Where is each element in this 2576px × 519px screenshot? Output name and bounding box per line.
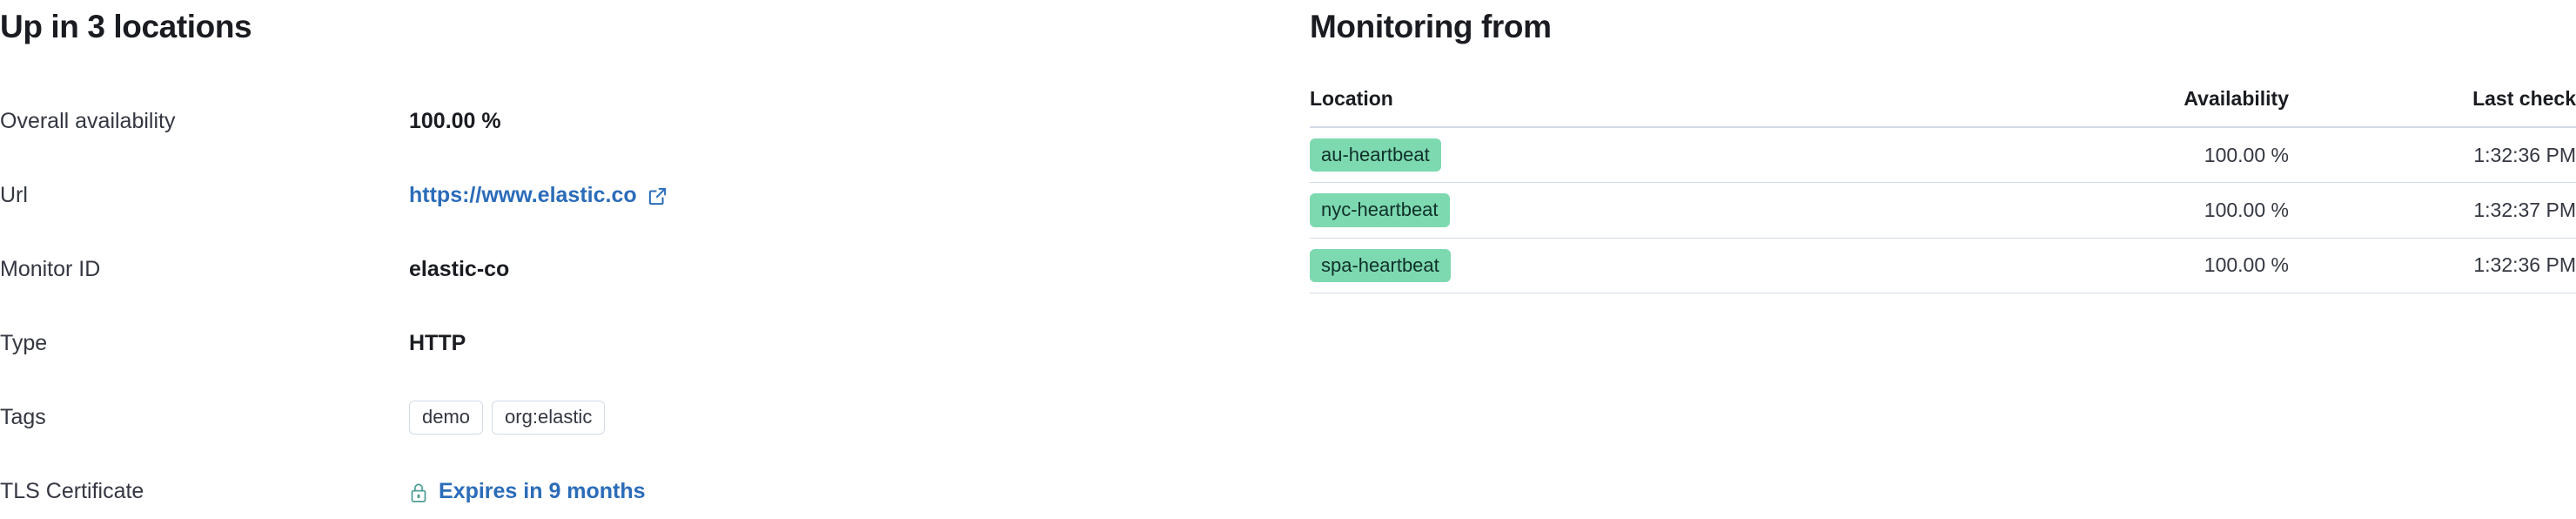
detail-row-url: Url https://www.elastic.co [0, 177, 1218, 214]
lock-icon [409, 482, 428, 503]
detail-label-tags: Tags [0, 407, 409, 428]
detail-value-type: HTTP [409, 333, 466, 354]
cell-last-check: 1:32:37 PM [2289, 183, 2576, 238]
detail-label-tls-certificate: TLS Certificate [0, 481, 409, 502]
tag-pill[interactable]: org:elastic [492, 401, 605, 435]
table-header-row: Location Availability Last check [1310, 87, 2576, 127]
cell-availability: 100.00 % [1923, 238, 2289, 293]
tag-pill[interactable]: demo [409, 401, 483, 435]
location-badge[interactable]: nyc-heartbeat [1310, 193, 1450, 226]
detail-label-type: Type [0, 333, 409, 354]
tag-pill-list: demo org:elastic [409, 401, 605, 435]
cell-last-check: 1:32:36 PM [2289, 238, 2576, 293]
location-badge[interactable]: spa-heartbeat [1310, 249, 1451, 282]
location-badge[interactable]: au-heartbeat [1310, 138, 1441, 172]
monitor-detail-page: Up in 3 locations Overall availability 1… [0, 0, 2576, 519]
cell-availability: 100.00 % [1923, 127, 2289, 183]
monitor-status-panel: Up in 3 locations Overall availability 1… [0, 0, 1310, 519]
table-body: au-heartbeat 100.00 % 1:32:36 PM nyc-hea… [1310, 127, 2576, 293]
cell-location: au-heartbeat [1310, 127, 1923, 183]
column-header-availability[interactable]: Availability [1923, 87, 2289, 127]
table-row: nyc-heartbeat 100.00 % 1:32:37 PM [1310, 183, 2576, 238]
monitoring-locations-panel: Monitoring from Location Availability La… [1310, 0, 2576, 519]
external-link-icon [647, 186, 667, 206]
detail-row-tags: Tags demo org:elastic [0, 399, 1218, 436]
monitor-detail-list: Overall availability 100.00 % Url https:… [0, 103, 1218, 519]
column-header-last-check[interactable]: Last check [2289, 87, 2576, 127]
detail-row-overall-availability: Overall availability 100.00 % [0, 103, 1218, 140]
cell-last-check: 1:32:36 PM [2289, 127, 2576, 183]
cell-availability: 100.00 % [1923, 183, 2289, 238]
monitoring-from-title: Monitoring from [1310, 9, 1552, 45]
table-row: au-heartbeat 100.00 % 1:32:36 PM [1310, 127, 2576, 183]
detail-label-url: Url [0, 185, 409, 206]
detail-value-overall-availability: 100.00 % [409, 111, 501, 132]
tls-certificate-link[interactable]: Expires in 9 months [409, 481, 646, 502]
monitor-url-link[interactable]: https://www.elastic.co [409, 185, 667, 206]
detail-label-overall-availability: Overall availability [0, 111, 409, 132]
monitoring-locations-table: Location Availability Last check au-hear… [1310, 87, 2576, 293]
cell-location: spa-heartbeat [1310, 238, 1923, 293]
tls-certificate-text: Expires in 9 months [439, 481, 646, 502]
column-header-location[interactable]: Location [1310, 87, 1923, 127]
detail-label-monitor-id: Monitor ID [0, 259, 409, 280]
table-header: Location Availability Last check [1310, 87, 2576, 127]
detail-value-monitor-id: elastic-co [409, 259, 509, 280]
monitor-url-text: https://www.elastic.co [409, 185, 637, 206]
detail-row-tls-certificate: TLS Certificate Expires in 9 months [0, 473, 1218, 510]
cell-location: nyc-heartbeat [1310, 183, 1923, 238]
detail-row-monitor-id: Monitor ID elastic-co [0, 251, 1218, 288]
table-row: spa-heartbeat 100.00 % 1:32:36 PM [1310, 238, 2576, 293]
page-title: Up in 3 locations [0, 9, 252, 45]
detail-row-type: Type HTTP [0, 325, 1218, 362]
